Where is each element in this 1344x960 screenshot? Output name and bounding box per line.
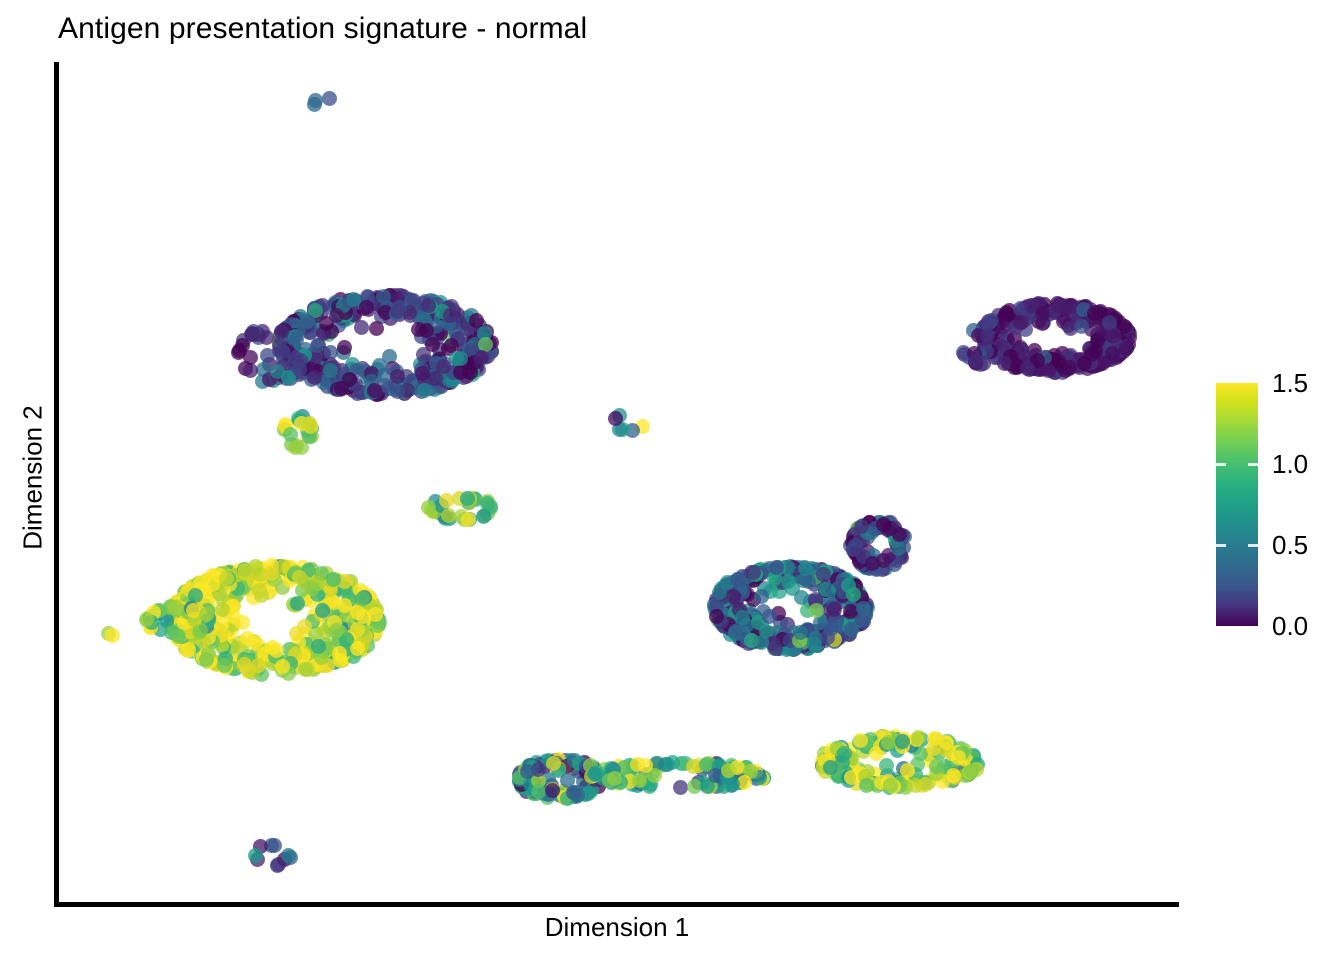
scatter-point [217,658,232,673]
scatter-point [359,300,374,315]
colorbar-tick-label: 0.0 [1272,613,1308,639]
scatter-point [980,328,995,343]
figure-root: Antigen presentation signature - normal … [0,0,1344,960]
colorbar-tick-label: 0.5 [1272,532,1308,558]
scatter-point [274,324,289,339]
scatter-point [443,308,458,323]
scatter-point [900,763,915,778]
scatter-point [376,289,391,304]
scatter-point [354,320,369,335]
scatter-point [827,602,842,617]
scatter-point [1074,319,1089,334]
scatter-point [1077,356,1092,371]
scatter-point [929,759,944,774]
page-title: Antigen presentation signature - normal [58,12,587,46]
scatter-point [439,493,454,508]
scatter-point [1041,363,1056,378]
scatter-point [856,601,871,616]
scatter-point [453,351,468,366]
scatter-point [421,500,436,515]
scatter-point [368,607,383,622]
scatter-point [1051,298,1066,313]
scatter-point [315,603,330,618]
scatter-point [730,572,745,587]
scatter-point [816,567,831,582]
scatter-point [709,609,724,624]
colorbar-tick-label: 1.5 [1272,370,1308,396]
scatter-point [801,574,816,589]
scatter-point [859,778,874,793]
scatter-point [267,838,282,853]
scatter-point [754,589,769,604]
scatter-point [520,764,535,779]
colorbar: 1.51.00.50.0 [1216,383,1336,629]
scatter-point [288,440,303,455]
scatter-point [415,366,430,381]
scatter-point [270,858,285,873]
colorbar-tick-mark [1216,544,1258,547]
scatter-point [856,614,871,629]
scatter-point [168,600,183,615]
scatter-point [835,755,850,770]
scatter-point [337,340,352,355]
scatter-point [1087,306,1102,321]
scatter-point [632,773,647,788]
scatter-point [390,304,405,319]
scatter-point [417,383,432,398]
scatter-point [199,607,214,622]
scatter-point [105,628,120,643]
scatter-point [171,629,186,644]
scatter-point [918,777,933,792]
scatter-point [911,730,926,745]
scatter-point [895,734,910,749]
scatter-point [275,659,290,674]
colorbar-gradient [1216,383,1258,626]
scatter-point [712,585,727,600]
scatter-point [441,508,456,523]
scatter-point [307,97,322,112]
scatter-point [323,345,338,360]
scatter-point [346,292,361,307]
scatter-point [853,733,868,748]
scatter-point [240,631,255,646]
scatter-point [883,778,898,793]
scatter-point [461,512,476,527]
scatter-point [355,591,370,606]
scatter-point [570,788,585,803]
scatter-point [269,643,284,658]
scatter-point [289,626,304,641]
x-axis-line [54,902,1179,907]
scatter-point [260,348,275,363]
scatter-point [369,321,384,336]
scatter-point [390,369,405,384]
colorbar-tick-label: 1.0 [1272,451,1308,477]
scatter-point [1035,316,1050,331]
x-axis-label: Dimension 1 [0,912,1234,943]
scatter-point [476,509,491,524]
scatter-point [781,574,796,589]
scatter-point [329,308,344,323]
scatter-point [939,735,954,750]
scatter-point [290,596,305,611]
scatter-point [725,777,740,792]
scatter-point [951,750,966,765]
scatter-point [762,609,777,624]
scatter-point [560,773,575,788]
scatter-point [289,332,304,347]
scatter-point [231,345,246,360]
scatter-point [1105,346,1120,361]
scatter-plot-area[interactable] [59,62,1179,902]
y-axis-label: Dimension 2 [18,268,49,688]
scatter-point [820,630,835,645]
scatter-point [329,623,344,638]
scatter-point [215,602,230,617]
scatter-point [844,770,859,785]
scatter-point [794,590,809,605]
scatter-point [531,784,546,799]
scatter-point [248,848,263,863]
scatter-point [272,338,287,353]
scatter-point [245,326,260,341]
scatter-point [322,91,337,106]
scatter-point [436,359,451,374]
colorbar-tick-mark [1216,463,1258,466]
scatter-point [252,583,267,598]
scatter-point [728,624,743,639]
scatter-point [746,565,761,580]
scatter-point [251,658,266,673]
scatter-point [1119,341,1134,356]
scatter-point [334,381,349,396]
scatter-point [1020,361,1035,376]
scatter-point [311,639,326,654]
scatter-point [608,411,623,426]
scatter-point [673,780,688,795]
scatter-point [999,307,1014,322]
scatter-point [237,657,252,672]
